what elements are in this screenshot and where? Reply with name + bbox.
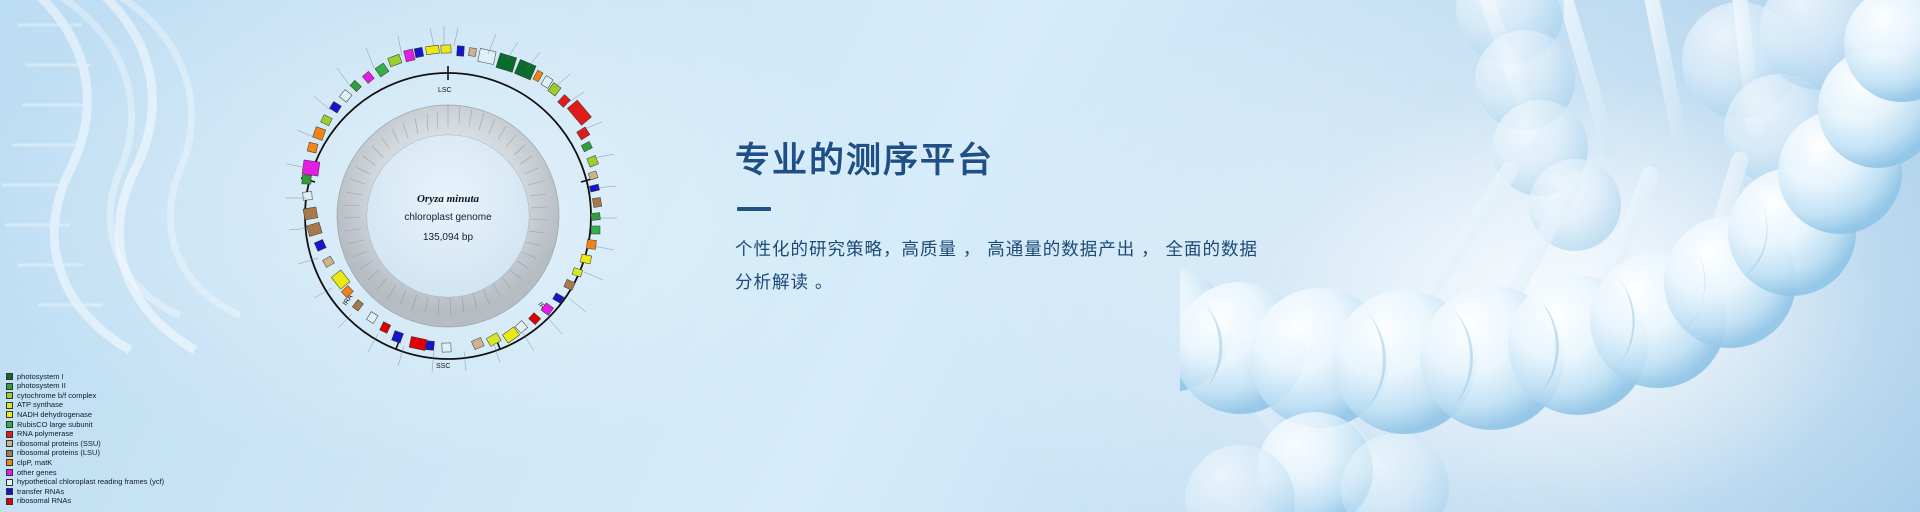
legend-swatch	[6, 421, 13, 428]
legend-swatch	[6, 373, 13, 380]
banner-headline: 专业的测序平台	[735, 132, 1355, 183]
legend-label: clpP, matK	[17, 458, 52, 468]
legend-swatch	[6, 459, 13, 466]
legend-label: ribosomal RNAs	[17, 496, 71, 506]
legend-item-nadh-dehydrogenase: NADH dehydrogenase	[6, 410, 164, 420]
headline-underline-rule	[737, 207, 771, 211]
legend-item-cytochrome-bf-complex: cytochrome b/f complex	[6, 391, 164, 401]
genome-subtitle: chloroplast genome	[404, 212, 492, 223]
legend-item-rubisco-large-subunit: RubisCO large subunit	[6, 420, 164, 430]
legend-swatch	[6, 431, 13, 438]
legend-label: cytochrome b/f complex	[17, 391, 96, 401]
banner-text-block: 专业的测序平台 个性化的研究策略，高质量 ， 高通量的数据产出 ， 全面的数据分…	[735, 132, 1355, 299]
genome-size: 135,094 bp	[423, 232, 473, 243]
legend-swatch	[6, 498, 13, 505]
legend-item-transfer-rnas: transfer RNAs	[6, 487, 164, 497]
legend-item-photosystem-i: photosystem I	[6, 372, 164, 382]
legend-item-other-genes: other genes	[6, 468, 164, 478]
legend-label: ATP synthase	[17, 400, 63, 410]
legend-item-clpp-matk: clpP, matK	[6, 458, 164, 468]
legend-swatch	[6, 411, 13, 418]
legend-label: photosystem II	[17, 381, 66, 391]
genome-organism-name: Oryza minuta	[417, 193, 480, 205]
legend-swatch	[6, 479, 13, 486]
legend-swatch	[6, 440, 13, 447]
legend-item-rna-polymerase: RNA polymerase	[6, 429, 164, 439]
legend-swatch	[6, 402, 13, 409]
legend-item-ribosomal-proteins-ssu: ribosomal proteins (SSU)	[6, 439, 164, 449]
legend-label: ribosomal proteins (LSU)	[17, 448, 100, 458]
region-label-ssc: SSC	[436, 363, 450, 370]
chloroplast-genome-circular-map: IRA SSC IRB LSC	[238, 6, 658, 426]
banner-subtext: 个性化的研究策略，高质量 ， 高通量的数据产出 ， 全面的数据分析解读 。	[735, 233, 1265, 299]
genome-map-legend: photosystem I photosystem II cytochrome …	[6, 372, 164, 506]
legend-item-ribosomal-proteins-lsu: ribosomal proteins (LSU)	[6, 448, 164, 458]
legend-swatch	[6, 392, 13, 399]
legend-label: RubisCO large subunit	[17, 420, 92, 430]
legend-swatch	[6, 450, 13, 457]
legend-label: hypothetical chloroplast reading frames …	[17, 477, 164, 487]
legend-item-atp-synthase: ATP synthase	[6, 400, 164, 410]
legend-swatch	[6, 383, 13, 390]
legend-label: RNA polymerase	[17, 429, 73, 439]
legend-label: ribosomal proteins (SSU)	[17, 439, 101, 449]
legend-item-ribosomal-rnas: ribosomal RNAs	[6, 496, 164, 506]
legend-label: other genes	[17, 468, 57, 478]
legend-label: photosystem I	[17, 372, 64, 382]
legend-swatch	[6, 488, 13, 495]
legend-label: transfer RNAs	[17, 487, 64, 497]
legend-item-photosystem-ii: photosystem II	[6, 381, 164, 391]
legend-item-hypothetical-reading-frames: hypothetical chloroplast reading frames …	[6, 477, 164, 487]
legend-swatch	[6, 469, 13, 476]
region-label-lsc: LSC	[438, 87, 452, 94]
sequencing-platform-banner: IRA SSC IRB LSC	[0, 0, 1920, 512]
legend-label: NADH dehydrogenase	[17, 410, 92, 420]
